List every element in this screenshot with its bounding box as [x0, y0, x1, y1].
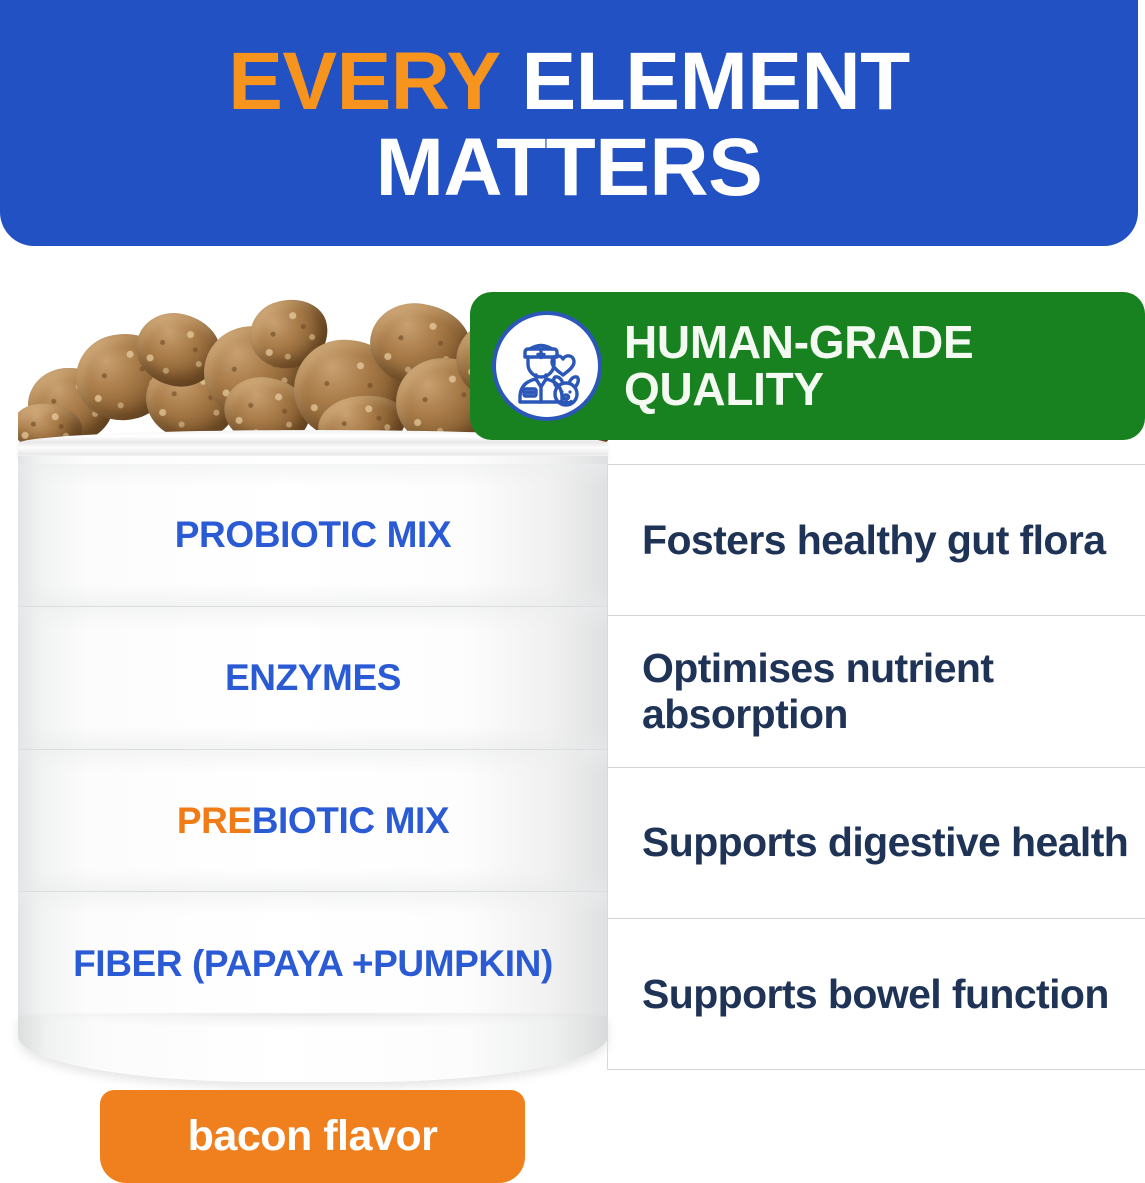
benefit-text: Supports digestive health — [642, 819, 1128, 866]
ingredient-label: ENZYMES — [209, 658, 417, 697]
banner-headline-line-2: MATTERS — [376, 128, 763, 208]
flavor-badge: bacon flavor — [100, 1090, 525, 1183]
benefit-row-probiotic: Fosters healthy gut flora — [608, 464, 1145, 616]
benefit-row-prebiotic: Supports digestive health — [608, 768, 1145, 919]
badge-label-line-2: QUALITY — [624, 366, 973, 413]
vet-heart-dog-icon — [492, 311, 602, 421]
benefit-text: Supports bowel function — [642, 971, 1109, 1018]
badge-label-line-1: HUMAN-GRADE — [624, 316, 973, 368]
ingredient-label: PREBIOTIC MIX — [161, 801, 465, 840]
benefit-text: Fosters healthy gut flora — [642, 517, 1105, 564]
benefit-list: Fosters healthy gut flora Optimises nutr… — [607, 464, 1145, 1070]
ingredient-list: PROBIOTIC MIX ENZYMES PREBIOTIC MIX FIBE… — [18, 464, 608, 1034]
header-banner: EVERY ELEMENT MATTERS — [0, 0, 1138, 246]
ingredient-row-prebiotic: PREBIOTIC MIX — [18, 750, 608, 893]
ingredient-label-prefix: PRE — [177, 800, 252, 841]
banner-headline-rest: ELEMENT — [499, 36, 910, 127]
ingredient-row-enzymes: ENZYMES — [18, 607, 608, 750]
jar-base — [18, 1016, 608, 1082]
ingredient-label-main: BIOTIC MIX — [252, 800, 449, 841]
benefit-row-enzymes: Optimises nutrient absorption — [608, 616, 1145, 767]
ingredient-label: FIBER (PAPAYA +PUMPKIN) — [57, 944, 569, 983]
badge-label: HUMAN-GRADE QUALITY — [624, 319, 973, 413]
benefit-row-fiber: Supports bowel function — [608, 919, 1145, 1070]
ingredient-row-probiotic: PROBIOTIC MIX — [18, 464, 608, 607]
supplement-jar: PROBIOTIC MIX ENZYMES PREBIOTIC MIX FIBE… — [18, 430, 608, 1070]
ingredient-label: PROBIOTIC MIX — [159, 515, 467, 554]
banner-headline-highlight: EVERY — [228, 36, 499, 127]
banner-headline-line-1: EVERY ELEMENT — [228, 42, 910, 122]
benefit-text: Optimises nutrient absorption — [642, 645, 1139, 738]
human-grade-quality-badge: HUMAN-GRADE QUALITY — [470, 292, 1145, 440]
flavor-label: bacon flavor — [188, 1112, 438, 1161]
